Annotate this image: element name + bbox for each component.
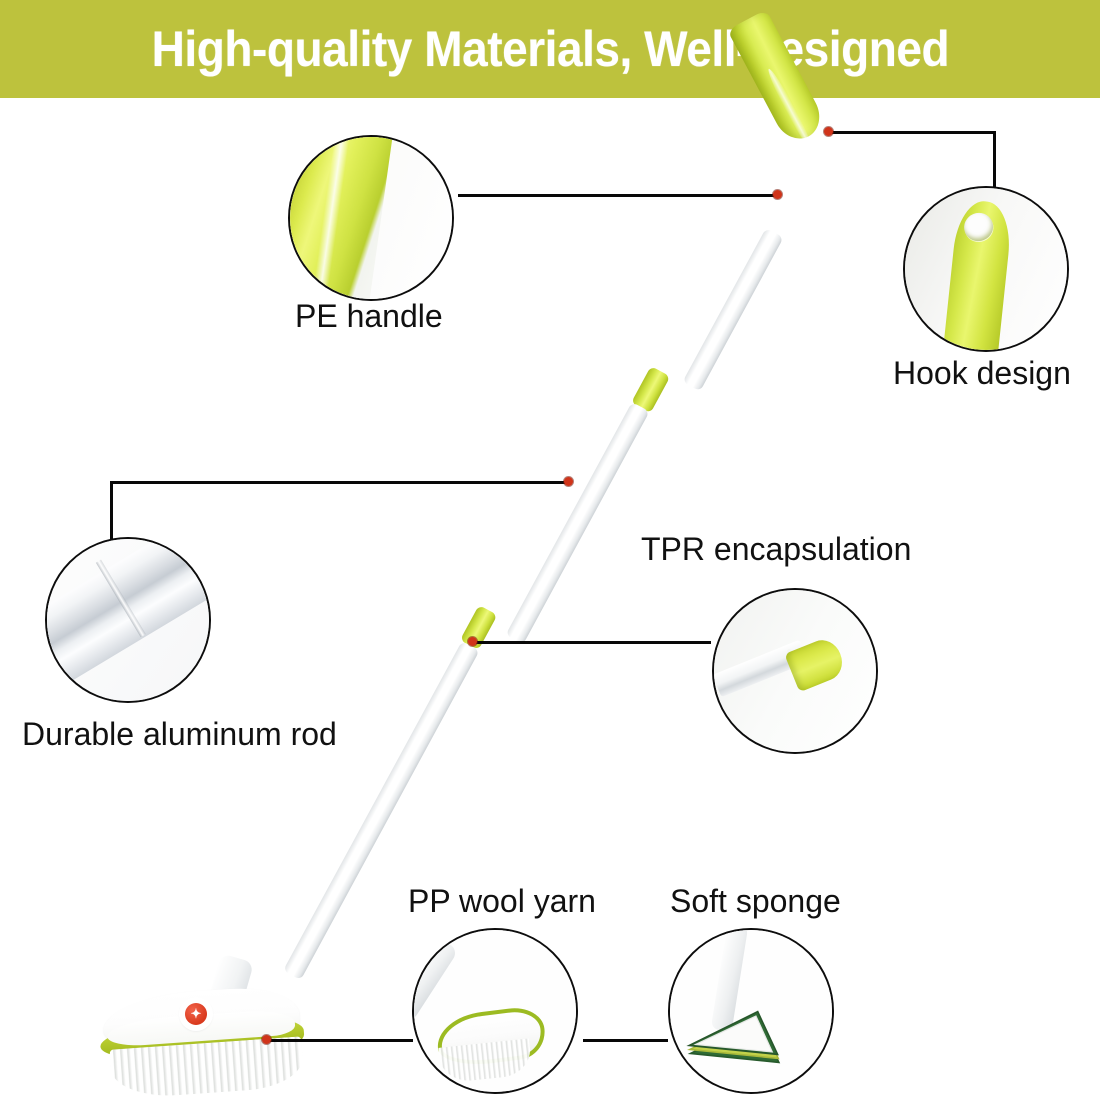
tpr-encapsulation-closeup-icon: [714, 590, 876, 752]
callout-circle-soft-sponge[interactable]: [668, 928, 834, 1094]
leader-line-tpr: [476, 641, 711, 644]
anchor-dot-tpr: [468, 637, 477, 646]
callout-label-tpr-encapsulation: TPR encapsulation: [641, 533, 911, 565]
anchor-dot-aluminum-rod: [564, 477, 573, 486]
header-banner: High-quality Materials, Well-designed: [0, 0, 1100, 98]
pp-wool-yarn-closeup-icon: [414, 930, 576, 1092]
callout-circle-aluminum-rod[interactable]: [45, 537, 211, 703]
aluminum-rod-middle: [506, 402, 650, 644]
callout-circle-hook-design[interactable]: [903, 186, 1069, 352]
leader-line-pp-wool-yarn: [268, 1039, 413, 1042]
anchor-dot-hook-design: [824, 127, 833, 136]
callout-label-hook-design: Hook design: [893, 357, 1071, 389]
leader-line-hook-h: [832, 131, 996, 134]
anchor-dot-pp-wool-yarn: [262, 1035, 271, 1044]
leader-line-sponge-connector: [583, 1039, 668, 1042]
brush-bristles: [109, 1036, 304, 1099]
pe-handle-closeup-icon: [290, 137, 452, 299]
callout-label-soft-sponge: Soft sponge: [670, 885, 841, 917]
aluminum-rod-closeup-icon: [47, 539, 209, 701]
soft-sponge-closeup-icon: [670, 930, 832, 1092]
hook-design-closeup-icon: [905, 188, 1067, 350]
brush-green-trim: [99, 1014, 305, 1060]
leader-line-pe-handle: [458, 194, 778, 197]
leader-line-aluminum-v: [110, 481, 113, 539]
callout-circle-tpr-encapsulation[interactable]: [712, 588, 878, 754]
brush-neck: [206, 953, 254, 1016]
aluminum-rod-upper: [682, 228, 783, 391]
callout-label-pe-handle: PE handle: [295, 300, 443, 332]
callout-circle-pp-wool-yarn[interactable]: [412, 928, 578, 1094]
callout-circle-pe-handle[interactable]: [288, 135, 454, 301]
brush-logo-button: ✦: [181, 999, 211, 1029]
callout-label-aluminum-rod: Durable aluminum rod: [22, 718, 337, 750]
leader-line-aluminum-h: [110, 481, 570, 484]
brush-logo-glyph: ✦: [185, 1003, 207, 1025]
anchor-dot-pe-handle: [773, 190, 782, 199]
leader-line-hook-v: [993, 131, 996, 187]
tpr-collar-upper: [631, 366, 670, 413]
page-title: High-quality Materials, Well-designed: [151, 24, 948, 74]
callout-label-pp-wool-yarn: PP wool yarn: [408, 885, 596, 917]
infographic-canvas: High-quality Materials, Well-designed ✦: [0, 0, 1100, 1097]
